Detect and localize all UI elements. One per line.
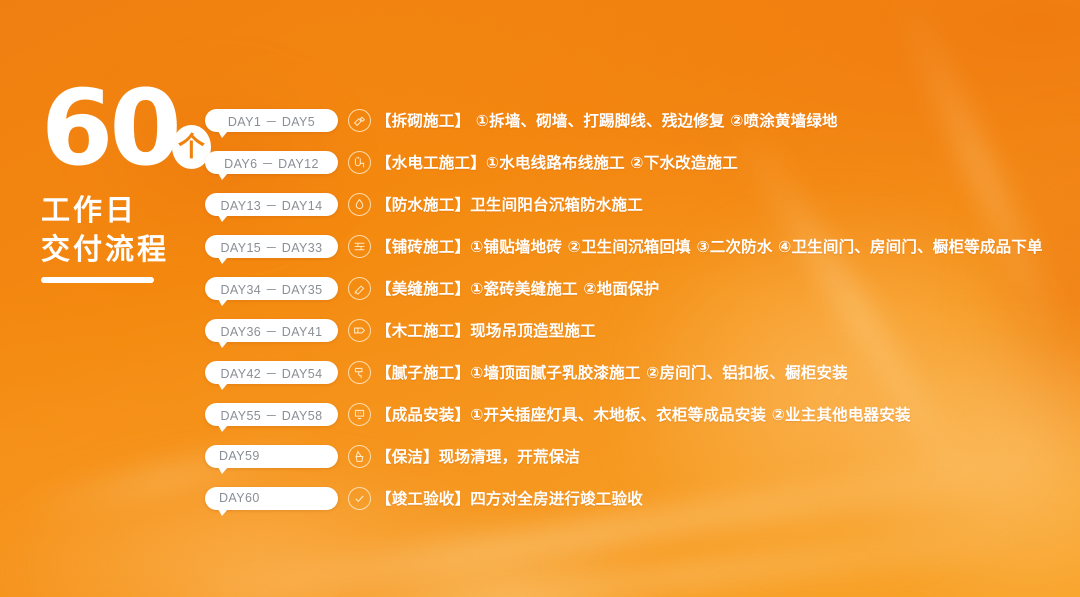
day-range-label: DAY6 － DAY12 (224, 153, 319, 172)
putty-paint-icon (348, 361, 371, 384)
hero-block: 60 个 工作日 交付流程 (41, 84, 211, 283)
stage-description: 【竣工验收】四方对全房进行竣工验收 (376, 487, 643, 509)
stage-description: 【保洁】现场清理，开荒保洁 (376, 445, 580, 467)
timeline-row: DAY36 － DAY41【木工施工】现场吊顶造型施工 (205, 309, 1080, 351)
tiling-icon (348, 235, 371, 258)
day-range-label: DAY55 － DAY58 (220, 405, 322, 424)
timeline-row: DAY42 － DAY54【腻子施工】①墙顶面腻子乳胶漆施工 ②房间门、铝扣板、… (205, 351, 1080, 393)
stage-description: 【防水施工】卫生间阳台沉箱防水施工 (376, 193, 643, 215)
stage-description: 【铺砖施工】①铺贴墙地砖 ②卫生间沉箱回填 ③二次防水 ④卫生间门、房间门、橱柜… (376, 235, 1043, 257)
hero-subtitle-line2: 交付流程 (41, 230, 211, 268)
timeline-row: DAY34 － DAY35【美缝施工】①瓷砖美缝施工 ②地面保护 (205, 267, 1080, 309)
stage-description: 【木工施工】现场吊顶造型施工 (376, 319, 596, 341)
day-range-pill[interactable]: DAY34 － DAY35 (205, 277, 338, 300)
timeline-row: DAY13 － DAY14【防水施工】卫生间阳台沉箱防水施工 (205, 183, 1080, 225)
timeline-row: DAY1 － DAY5【拆砌施工】 ①拆墙、砌墙、打踢脚线、残边修复 ②喷涂黄墙… (205, 99, 1080, 141)
day-range-pill[interactable]: DAY13 － DAY14 (205, 193, 338, 216)
day-range-pill[interactable]: DAY15 － DAY33 (205, 235, 338, 258)
timeline-row: DAY55 － DAY58【成品安装】①开关插座灯具、木地板、衣柜等成品安装 ②… (205, 393, 1080, 435)
day-range-label: DAY36 － DAY41 (220, 321, 322, 340)
stage-description: 【水电工施工】①水电线路布线施工 ②下水改造施工 (376, 151, 738, 173)
day-range-label: DAY59 (205, 449, 338, 463)
cleaning-icon (348, 445, 371, 468)
timeline-row: DAY15 － DAY33【铺砖施工】①铺贴墙地砖 ②卫生间沉箱回填 ③二次防水… (205, 225, 1080, 267)
timeline-row: DAY60【竣工验收】四方对全房进行竣工验收 (205, 477, 1080, 519)
hero-subtitle-line1: 工作日 (41, 191, 211, 229)
final-inspection-icon (348, 487, 371, 510)
timeline-rows: DAY1 － DAY5【拆砌施工】 ①拆墙、砌墙、打踢脚线、残边修复 ②喷涂黄墙… (205, 99, 1080, 519)
hero-number-row: 60 个 (41, 84, 211, 173)
stage-description: 【腻子施工】①墙顶面腻子乳胶漆施工 ②房间门、铝扣板、橱柜安装 (376, 361, 848, 383)
carpentry-icon (348, 319, 371, 342)
stage-description: 【美缝施工】①瓷砖美缝施工 ②地面保护 (376, 277, 659, 299)
day-range-label: DAY15 － DAY33 (220, 237, 322, 256)
grouting-icon (348, 277, 371, 300)
fixtures-install-icon (348, 403, 371, 426)
day-range-label: DAY1 － DAY5 (228, 111, 315, 130)
day-range-pill[interactable]: DAY55 － DAY58 (205, 403, 338, 426)
stage-description: 【拆砌施工】 ①拆墙、砌墙、打踢脚线、残边修复 ②喷涂黄墙绿地 (376, 109, 838, 131)
day-range-label: DAY60 (205, 491, 338, 505)
day-range-pill[interactable]: DAY1 － DAY5 (205, 109, 338, 132)
day-range-pill[interactable]: DAY36 － DAY41 (205, 319, 338, 342)
demolition-icon (348, 109, 371, 132)
infographic-poster: 60 个 工作日 交付流程 DAY1 － DAY5【拆砌施工】 ①拆墙、砌墙、打… (0, 0, 1080, 597)
day-range-pill[interactable]: DAY42 － DAY54 (205, 361, 338, 384)
day-range-label: DAY13 － DAY14 (220, 195, 322, 214)
timeline-row: DAY6 － DAY12【水电工施工】①水电线路布线施工 ②下水改造施工 (205, 141, 1080, 183)
stage-description: 【成品安装】①开关插座灯具、木地板、衣柜等成品安装 ②业主其他电器安装 (376, 403, 911, 425)
electrical-plumbing-icon (348, 151, 371, 174)
day-range-pill[interactable]: DAY60 (205, 487, 338, 510)
deco-streak-bottom-low (341, 529, 1039, 597)
hero-subtitle: 工作日 交付流程 (41, 191, 211, 268)
day-range-label: DAY34 － DAY35 (220, 279, 322, 298)
hero-underline (41, 277, 154, 283)
waterproofing-icon (348, 193, 371, 216)
hero-number: 60 (41, 84, 178, 173)
day-range-pill[interactable]: DAY59 (205, 445, 338, 468)
day-range-label: DAY42 － DAY54 (220, 363, 322, 382)
day-range-pill[interactable]: DAY6 － DAY12 (205, 151, 338, 174)
timeline-row: DAY59【保洁】现场清理，开荒保洁 (205, 435, 1080, 477)
